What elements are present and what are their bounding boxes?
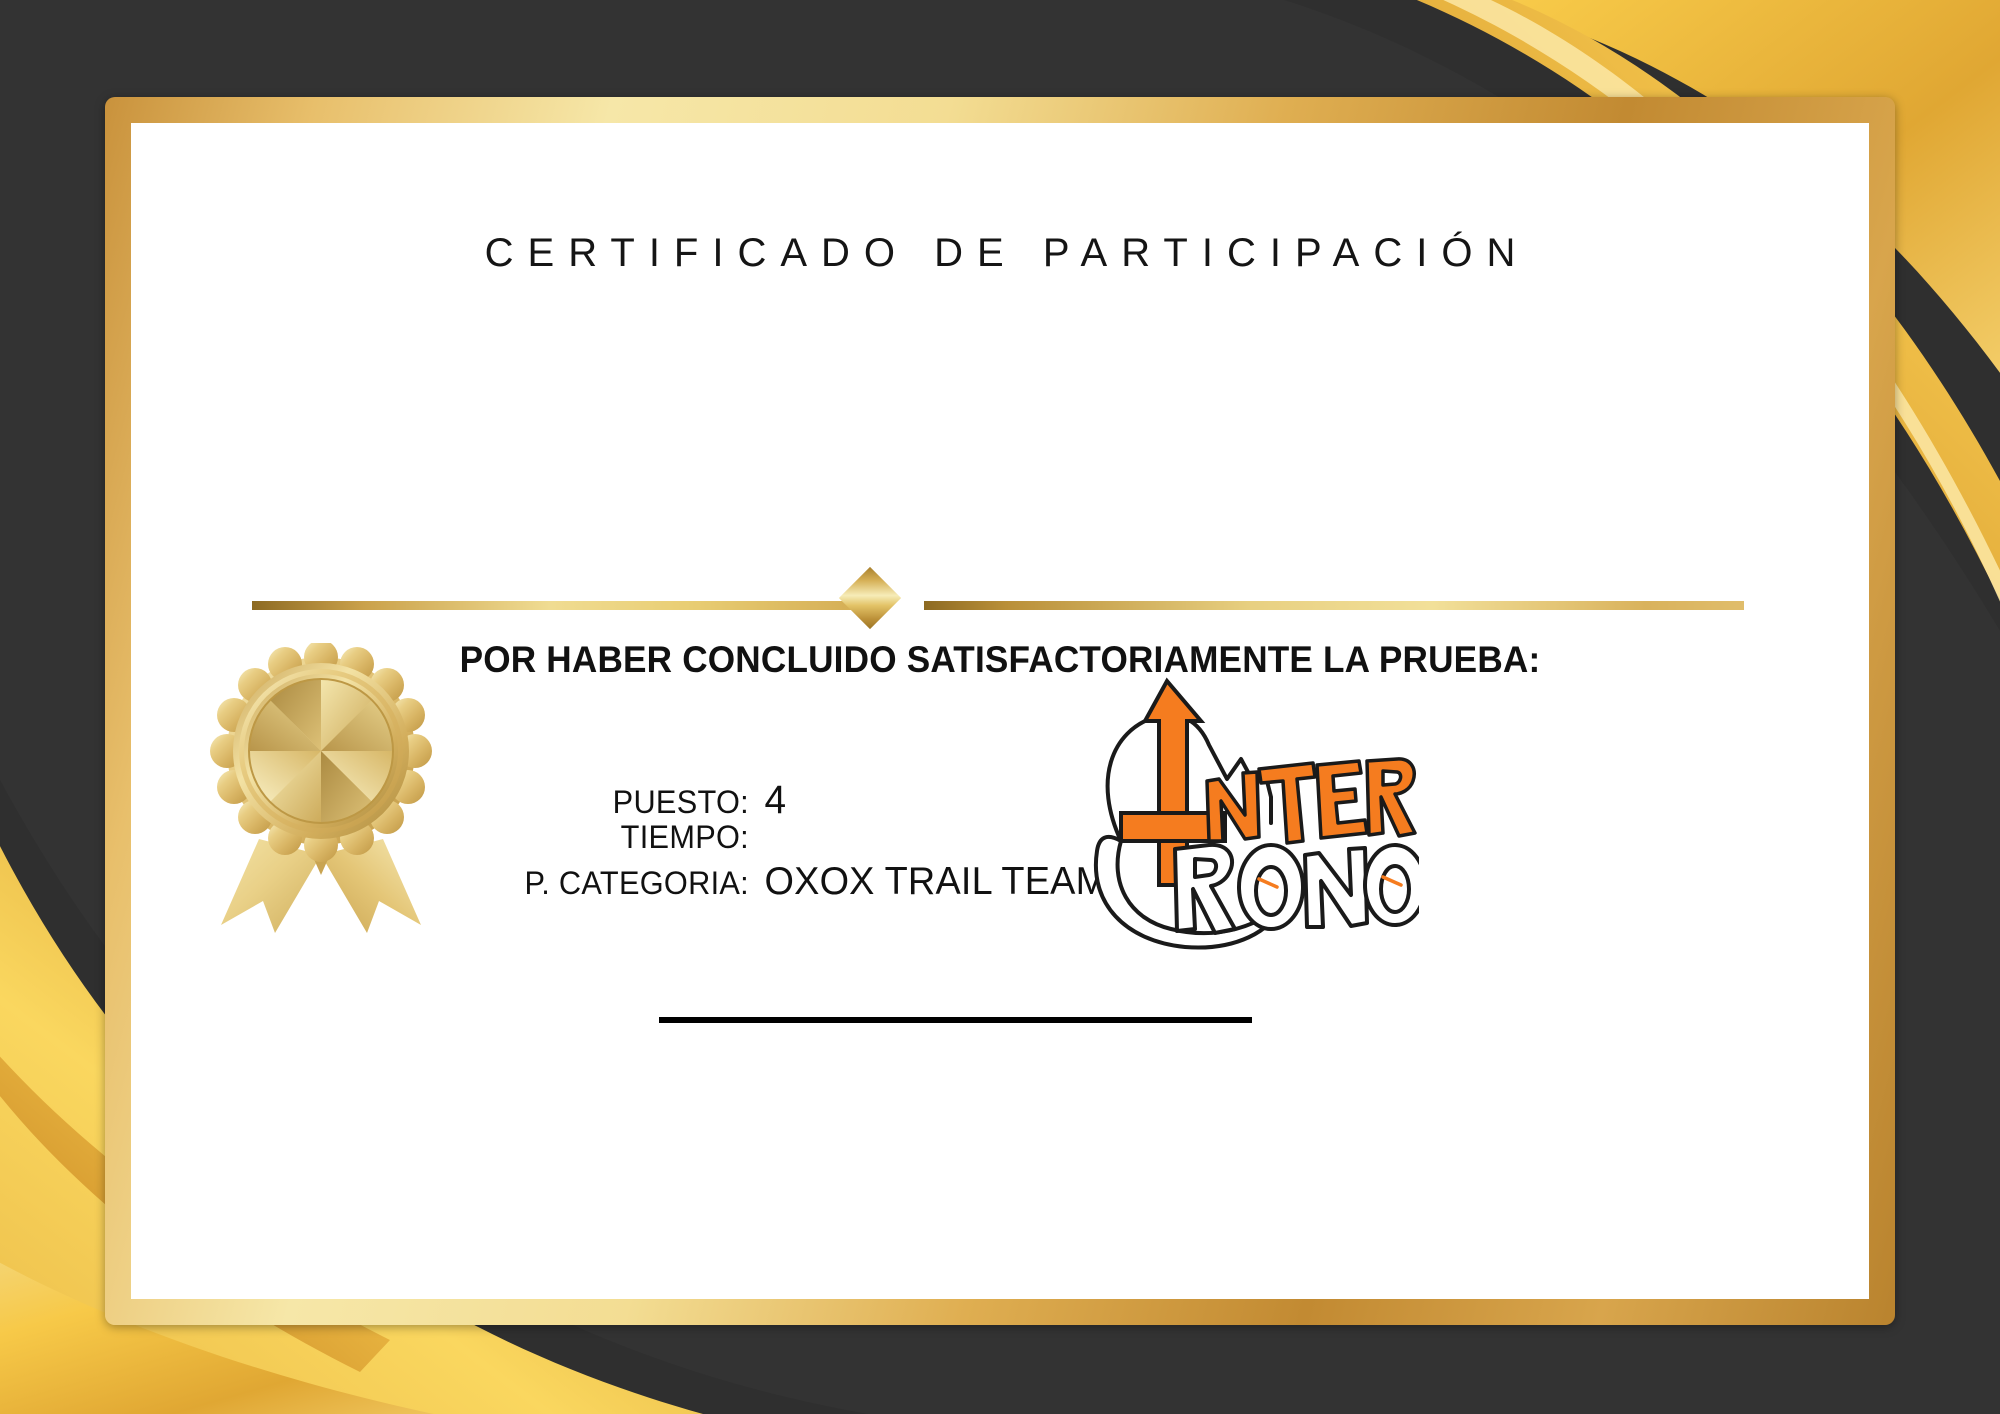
gold-rosette-seal-icon [201,643,441,933]
antercrono-logo [1059,673,1419,963]
divider-line-left [252,601,872,610]
certificate-gold-frame: CERTIFICADO DE PARTICIPACIÓN POR HABER C… [105,97,1895,1325]
field-value-puesto: 4 [749,778,786,823]
field-label-tiempo: TIEMPO: [444,819,749,856]
gold-divider-ornament [252,574,1744,636]
certificate-card: CERTIFICADO DE PARTICIPACIÓN POR HABER C… [131,123,1869,1299]
field-label-puesto: PUESTO: [444,784,749,821]
signature-line [659,1017,1252,1023]
certificate-page: CERTIFICADO DE PARTICIPACIÓN POR HABER C… [0,0,2000,1414]
diamond-icon [839,567,901,629]
page-title: CERTIFICADO DE PARTICIPACIÓN [131,231,1869,276]
field-value-categoria: OXOX TRAIL TEAM [749,860,1107,904]
field-label-categoria: P. CATEGORIA: [444,865,749,902]
divider-line-right [924,601,1744,610]
